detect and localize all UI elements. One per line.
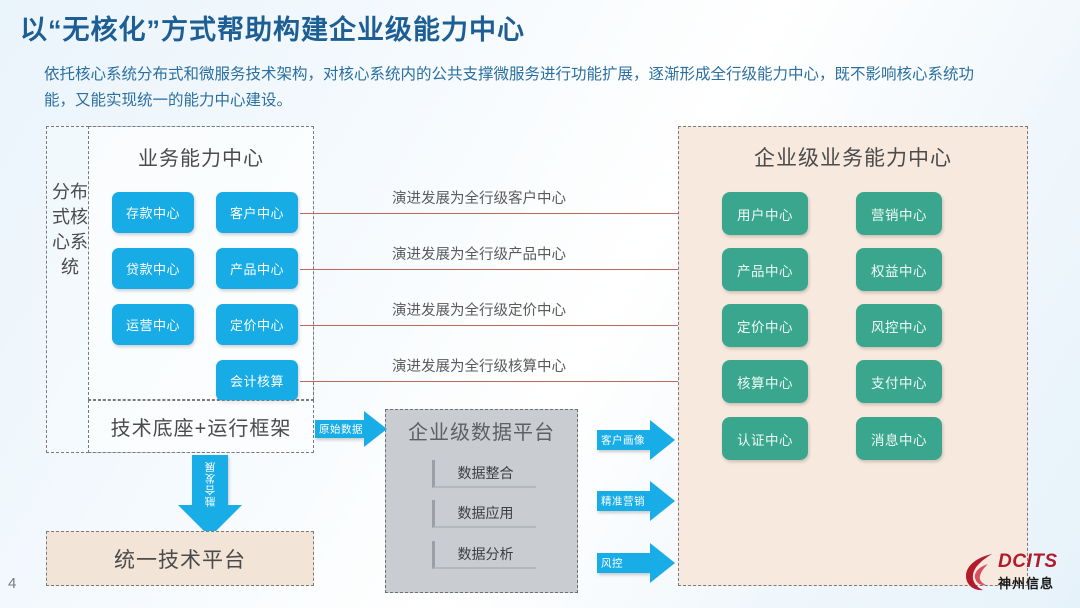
- blue-box-customer-center[interactable]: 客户中心: [216, 192, 298, 233]
- connector-label-4: 演进发展为全行级核算中心: [392, 355, 566, 376]
- connector-label-3: 演进发展为全行级定价中心: [392, 299, 566, 320]
- page-number: 4: [8, 575, 16, 592]
- green-box-authentication-center[interactable]: 认证中心: [722, 417, 808, 460]
- unified-tech-platform-label: 统一技术平台: [46, 544, 314, 574]
- connector-line-3: [300, 325, 720, 326]
- dcits-brand: DCITS: [998, 552, 1058, 572]
- arrow-raw-data: 原始数据: [315, 411, 387, 447]
- connector-line-4: [300, 381, 720, 382]
- page-subtitle: 依托核心系统分布式和微服务技术架构，对核心系统内的公共支撑微服务进行功能扩展，逐…: [44, 62, 984, 114]
- blue-box-accounting[interactable]: 会计核算: [216, 360, 298, 401]
- arrow-risk-control: 风控: [597, 543, 675, 583]
- data-platform-item-application[interactable]: 数据应用: [432, 500, 536, 528]
- data-platform-item-analysis[interactable]: 数据分析: [432, 541, 536, 569]
- distributed-core-system-label: 分布式核心系统: [52, 180, 88, 280]
- connector-line-2: [300, 269, 720, 270]
- blue-box-deposit-center[interactable]: 存款中心: [112, 192, 194, 233]
- green-box-riskcontrol-center[interactable]: 风控中心: [856, 304, 942, 347]
- green-box-payment-center[interactable]: 支付中心: [856, 360, 942, 403]
- enterprise-capability-center-title: 企业级业务能力中心: [678, 142, 1028, 172]
- arrow-precision-marketing-label: 精准营销: [601, 494, 645, 509]
- arrow-raw-data-head-icon: [364, 411, 387, 447]
- dcits-brand-cn: 神州信息: [998, 573, 1054, 592]
- blue-box-pricing-center[interactable]: 定价中心: [216, 304, 298, 345]
- dcits-mark-icon: [962, 552, 996, 592]
- blue-box-operation-center[interactable]: 运营中心: [112, 304, 194, 345]
- green-box-message-center[interactable]: 消息中心: [856, 417, 942, 460]
- tech-base-label: 技术底座+运行框架: [88, 412, 314, 441]
- green-box-accounting-center[interactable]: 核算中心: [722, 360, 808, 403]
- green-box-product-center[interactable]: 产品中心: [722, 248, 808, 291]
- arrow-customer-profile-label: 客户画像: [601, 433, 645, 448]
- arrow-integration-development: 融合发展: [178, 455, 242, 537]
- blue-box-product-center[interactable]: 产品中心: [216, 248, 298, 289]
- arrow-precision-marketing: 精准营销: [597, 481, 675, 521]
- arrow-precision-marketing-head-icon: [650, 481, 675, 521]
- green-box-rights-center[interactable]: 权益中心: [856, 248, 942, 291]
- arrow-raw-data-label: 原始数据: [319, 422, 363, 437]
- dcits-logo: DCITS 神州信息: [962, 552, 1074, 596]
- arrow-integration-development-label: 融合发展: [203, 461, 218, 507]
- connector-label-2: 演进发展为全行级产品中心: [392, 243, 566, 264]
- arrow-customer-profile-head-icon: [650, 420, 675, 460]
- arrow-risk-control-head-icon: [650, 543, 675, 583]
- blue-box-loan-center[interactable]: 贷款中心: [112, 248, 194, 289]
- enterprise-data-platform-title: 企业级数据平台: [385, 416, 578, 445]
- green-box-pricing-center[interactable]: 定价中心: [722, 304, 808, 347]
- data-platform-item-integration[interactable]: 数据整合: [432, 460, 536, 488]
- arrow-customer-profile: 客户画像: [597, 420, 675, 460]
- green-box-user-center[interactable]: 用户中心: [722, 192, 808, 235]
- arrow-risk-control-label: 风控: [601, 556, 623, 571]
- connector-label-1: 演进发展为全行级客户中心: [392, 187, 566, 208]
- business-capability-center-title: 业务能力中心: [88, 142, 314, 171]
- connector-line-1: [300, 213, 720, 214]
- page-title: 以“无核化”方式帮助构建企业级能力中心: [20, 8, 525, 47]
- green-box-marketing-center[interactable]: 营销中心: [856, 192, 942, 235]
